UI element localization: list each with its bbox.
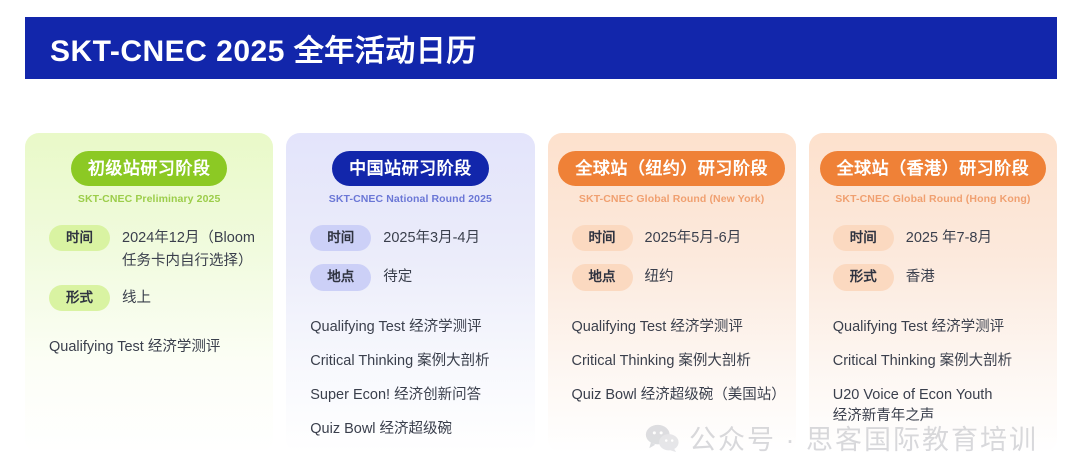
- card-event-list: Qualifying Test 经济学测评Critical Thinking 案…: [825, 317, 1041, 427]
- calendar-card: 中国站研习阶段SKT-CNEC National Round 2025时间202…: [286, 133, 534, 453]
- card-meta-row: 时间2025年5月-6月: [572, 225, 780, 251]
- calendar-card: 全球站（香港）研习阶段SKT-CNEC Global Round (Hong K…: [809, 133, 1057, 453]
- card-event-item: Critical Thinking 案例大剖析: [572, 351, 780, 372]
- card-event-item: Qualifying Test 经济学测评: [833, 317, 1041, 338]
- card-event-list: Qualifying Test 经济学测评: [41, 337, 257, 358]
- card-meta-label: 形式: [833, 264, 894, 290]
- card-meta-value: 线上: [122, 285, 151, 309]
- card-meta-label: 时间: [833, 225, 894, 251]
- card-stage-badge: 全球站（香港）研习阶段: [820, 151, 1047, 186]
- card-subtitle: SKT-CNEC Global Round (New York): [579, 193, 764, 205]
- card-meta-list: 时间2025年5月-6月地点纽约: [564, 225, 780, 290]
- card-meta-value: 2025年3月-4月: [383, 225, 480, 249]
- card-meta-value: 2025 年7-8月: [906, 225, 992, 249]
- card-meta-row: 地点待定: [310, 264, 518, 290]
- card-subtitle: SKT-CNEC Global Round (Hong Kong): [835, 193, 1030, 205]
- card-subtitle: SKT-CNEC Preliminary 2025: [78, 193, 221, 205]
- card-meta-value: 纽约: [645, 264, 674, 288]
- card-meta-list: 时间2025年3月-4月地点待定: [302, 225, 518, 290]
- card-subtitle: SKT-CNEC National Round 2025: [329, 193, 492, 205]
- card-stage-badge: 全球站（纽约）研习阶段: [558, 151, 785, 186]
- card-meta-label: 时间: [572, 225, 633, 251]
- card-event-item: Super Econ! 经济创新问答: [310, 385, 518, 406]
- card-meta-label: 形式: [49, 285, 110, 311]
- card-meta-label: 地点: [572, 264, 633, 290]
- card-meta-list: 时间2025 年7-8月形式香港: [825, 225, 1041, 290]
- card-meta-row: 时间2024年12月（Bloom 任务卡内自行选择）: [49, 225, 257, 272]
- card-meta-row: 时间2025年3月-4月: [310, 225, 518, 251]
- card-meta-row: 形式线上: [49, 285, 257, 311]
- card-event-item: Quiz Bowl 经济超级碗（美国站）: [572, 385, 780, 406]
- card-meta-value: 2025年5月-6月: [645, 225, 742, 249]
- card-event-item: Critical Thinking 案例大剖析: [310, 351, 518, 372]
- calendar-card: 全球站（纽约）研习阶段SKT-CNEC Global Round (New Yo…: [548, 133, 796, 453]
- calendar-card-row: 初级站研习阶段SKT-CNEC Preliminary 2025时间2024年1…: [25, 133, 1057, 453]
- page-title: SKT-CNEC 2025 全年活动日历: [50, 26, 477, 70]
- card-meta-label: 地点: [310, 264, 371, 290]
- card-meta-value: 香港: [906, 264, 935, 288]
- card-stage-badge: 初级站研习阶段: [71, 151, 228, 186]
- card-meta-row: 时间2025 年7-8月: [833, 225, 1041, 251]
- calendar-card: 初级站研习阶段SKT-CNEC Preliminary 2025时间2024年1…: [25, 133, 273, 453]
- card-event-list: Qualifying Test 经济学测评Critical Thinking 案…: [302, 317, 518, 440]
- card-event-item: Quiz Bowl 经济超级碗: [310, 419, 518, 440]
- card-event-item: U20 Voice of Econ Youth 经济新青年之声: [833, 385, 1041, 427]
- card-meta-label: 时间: [310, 225, 371, 251]
- card-meta-value: 待定: [383, 264, 412, 288]
- card-meta-row: 形式香港: [833, 264, 1041, 290]
- card-event-list: Qualifying Test 经济学测评Critical Thinking 案…: [564, 317, 780, 406]
- card-event-item: Qualifying Test 经济学测评: [310, 317, 518, 338]
- card-event-item: Qualifying Test 经济学测评: [572, 317, 780, 338]
- card-meta-value: 2024年12月（Bloom 任务卡内自行选择）: [122, 225, 255, 272]
- page-title-banner: SKT-CNEC 2025 全年活动日历: [25, 17, 1057, 79]
- card-event-item: Critical Thinking 案例大剖析: [833, 351, 1041, 372]
- card-meta-list: 时间2024年12月（Bloom 任务卡内自行选择）形式线上: [41, 225, 257, 311]
- card-stage-badge: 中国站研习阶段: [332, 151, 489, 186]
- card-meta-row: 地点纽约: [572, 264, 780, 290]
- card-meta-label: 时间: [49, 225, 110, 251]
- card-event-item: Qualifying Test 经济学测评: [49, 337, 257, 358]
